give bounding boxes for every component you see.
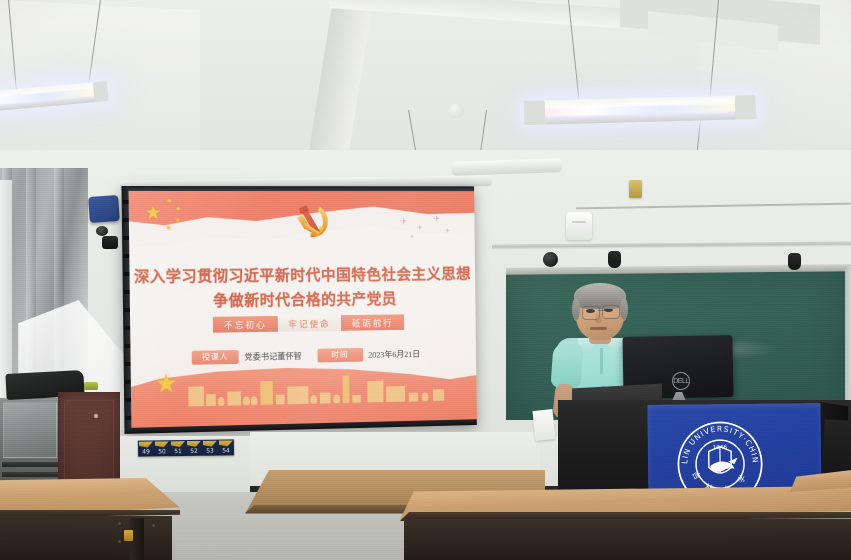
flag-star-small: ★ xyxy=(174,217,180,224)
screen-top-edge xyxy=(121,186,474,191)
flag-star-large: ★ xyxy=(145,204,162,223)
classroom-photo-scene: ★ ★ ★ ★ ★ xyxy=(0,0,851,560)
bird-icon: ✈ xyxy=(434,214,440,223)
wifi-access-point-icon xyxy=(566,212,592,240)
chalkboard-hook-icon xyxy=(608,251,621,268)
seat-number-cell: 52 xyxy=(186,440,202,456)
slide-title: 深入学习贯彻习近平新时代中国特色社会主义思想 争做新时代合格的共产党员 xyxy=(129,262,475,312)
light-end-cap xyxy=(524,100,545,125)
student-desk-left-body xyxy=(0,516,172,560)
chalkboard-right-frame xyxy=(845,266,851,422)
chalkboard-hook-icon xyxy=(788,253,801,270)
green-tape-roll xyxy=(84,382,98,390)
student-desk-right-body xyxy=(404,519,851,560)
bird-icon: ✈ xyxy=(400,216,407,227)
paper-sheet xyxy=(532,409,555,441)
dell-logo-icon: DELL xyxy=(672,372,690,390)
window-frame xyxy=(0,180,12,400)
cpc-hammer-sickle-emblem xyxy=(293,203,334,242)
slide-meta-row: 授课人 党委书记董怀智 时间 2023年6月21日 xyxy=(192,346,422,365)
seat-number-strip: 49 50 51 52 53 54 xyxy=(138,439,234,456)
slide-title-line1: 深入学习贯彻习近平新时代中国特色社会主义思想 xyxy=(129,262,475,287)
desk-bolt xyxy=(152,524,155,527)
slide-meta-pill-time: 时间 xyxy=(317,347,363,361)
prc-flag: ★ ★ ★ ★ ★ xyxy=(142,197,215,237)
slide-meta-value-time: 2023年6月21日 xyxy=(368,348,420,361)
chalkboard-hook-icon xyxy=(543,252,558,267)
person-hair-side xyxy=(572,298,580,320)
seat-number-cell: 50 xyxy=(154,440,170,456)
light-tube-glow xyxy=(536,103,745,117)
presentation-slide: ★ ★ ★ ★ ★ xyxy=(129,191,477,428)
slide-badge-row: 不忘初心 牢记使命 砥砺前行 xyxy=(213,314,404,332)
slide-meta-pill-presenter: 授课人 xyxy=(192,350,239,365)
person-sleeve xyxy=(551,343,584,389)
camera-lens-icon xyxy=(96,226,108,236)
rack-slot xyxy=(2,472,58,477)
bird-icon: ✈ xyxy=(445,228,450,235)
person-nose xyxy=(595,311,602,323)
wall-device-yellow xyxy=(629,180,642,198)
slide-meta-value-presenter: 党委书记董怀智 xyxy=(244,349,301,362)
desk-bolt xyxy=(118,540,121,543)
flag-star-small: ★ xyxy=(166,225,172,232)
bird-silhouettes: ✈ ✈ ✈ ✈ ✈ xyxy=(396,214,467,243)
desk-number-tag xyxy=(124,530,133,541)
camera-mount xyxy=(102,236,118,249)
desk-bolt xyxy=(118,522,121,525)
slide-title-line2: 争做新时代合格的共产党员 xyxy=(130,286,476,311)
wall-camera-icon xyxy=(88,195,120,223)
person-eyeglass-lens xyxy=(602,305,620,319)
ceiling-hook xyxy=(448,104,464,118)
person-hair-side xyxy=(620,298,628,320)
slide-star-graphic: ★ xyxy=(154,368,177,399)
light-end-cap xyxy=(92,81,108,102)
rack-slot xyxy=(2,462,58,467)
projection-screen: ★ ★ ★ ★ ★ xyxy=(121,186,476,434)
seat-number-cell: 53 xyxy=(202,440,218,456)
light-end-cap xyxy=(735,95,756,120)
shirt-placket xyxy=(600,348,603,374)
seat-number-cell: 51 xyxy=(170,440,186,456)
flag-star-small: ★ xyxy=(175,206,181,213)
seat-number-cell: 54 xyxy=(218,439,234,455)
cabinet-knob[interactable] xyxy=(94,414,98,418)
flag-star-small: ★ xyxy=(166,198,172,205)
person-mouth xyxy=(590,327,607,330)
ceiling-panel-left xyxy=(0,0,200,160)
rack-glass-panel xyxy=(3,402,57,458)
seat-number-cell: 49 xyxy=(138,440,154,456)
slide-badge-3: 砥砺前行 xyxy=(341,314,404,330)
slide-badge-2: 牢记使命 xyxy=(277,315,341,332)
bird-icon: ✈ xyxy=(417,224,423,232)
slide-badge-1: 不忘初心 xyxy=(213,316,278,333)
ceiling-beam xyxy=(330,0,670,32)
bird-icon: ✈ xyxy=(410,234,415,241)
